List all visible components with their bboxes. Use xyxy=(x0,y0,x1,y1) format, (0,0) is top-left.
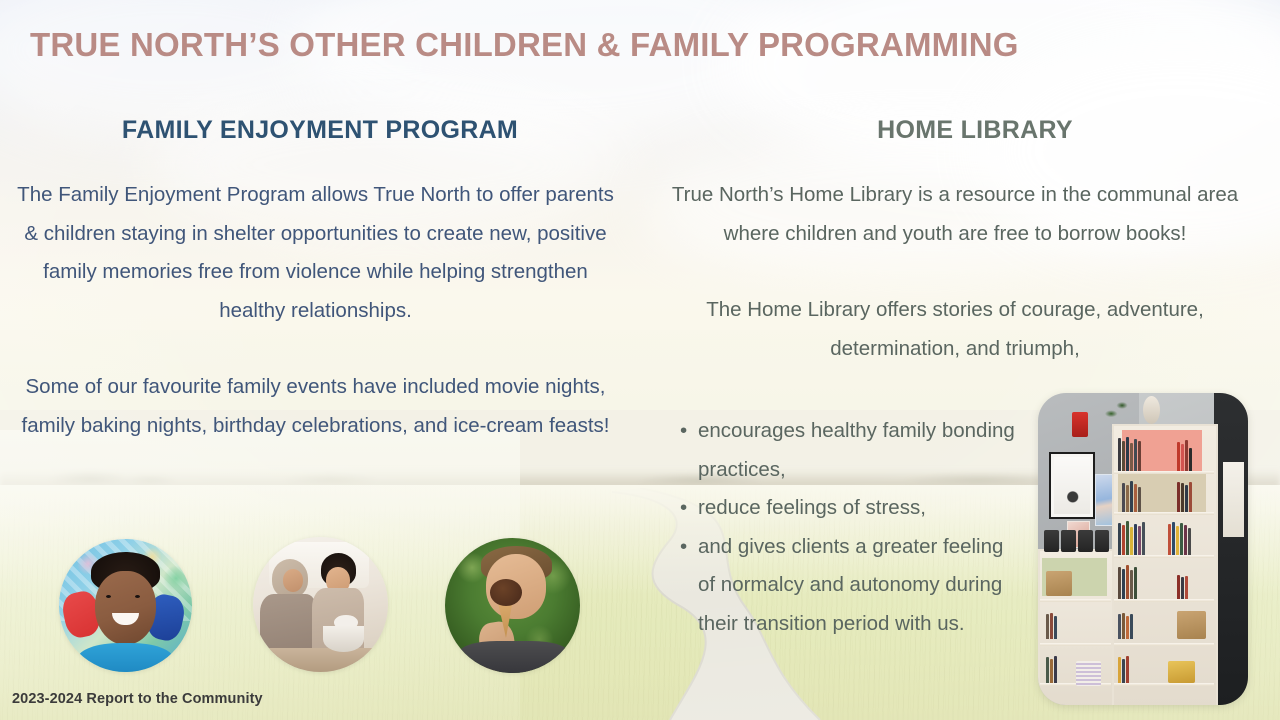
child-painted-hands-photo xyxy=(59,539,192,672)
list-item-label: reduce feelings of stress, xyxy=(698,496,926,519)
right-paragraph-1: True North’s Home Library is a resource … xyxy=(655,176,1255,253)
bullet-marker-icon: • xyxy=(680,528,687,567)
list-item: • encourages healthy family bonding prac… xyxy=(676,412,1016,489)
list-item-label: encourages healthy family bonding practi… xyxy=(698,419,1015,481)
child-eating-ice-cream-photo xyxy=(445,538,580,673)
list-item-label: and gives clients a greater feeling of n… xyxy=(698,535,1003,635)
right-column-body: True North’s Home Library is a resource … xyxy=(655,176,1255,368)
page-title: TRUE NORTH’S OTHER CHILDREN & FAMILY PRO… xyxy=(30,26,1230,64)
bullet-marker-icon: • xyxy=(680,412,687,451)
right-column-heading: HOME LIBRARY xyxy=(660,116,1280,145)
parent-and-child-baking-photo xyxy=(253,537,388,672)
left-column-body: The Family Enjoyment Program allows True… xyxy=(8,176,623,446)
bullet-marker-icon: • xyxy=(680,489,687,528)
left-paragraph-1: The Family Enjoyment Program allows True… xyxy=(8,176,623,330)
home-library-bookshelf-photo xyxy=(1038,393,1248,705)
slide-canvas: TRUE NORTH’S OTHER CHILDREN & FAMILY PRO… xyxy=(0,0,1280,720)
list-item: • reduce feelings of stress, xyxy=(676,489,1016,528)
left-paragraph-2: Some of our favourite family events have… xyxy=(8,368,623,445)
right-paragraph-2: The Home Library offers stories of coura… xyxy=(655,291,1255,368)
left-column-heading: FAMILY ENJOYMENT PROGRAM xyxy=(20,116,620,145)
list-item: • and gives clients a greater feeling of… xyxy=(676,528,1016,644)
home-library-benefits-list: • encourages healthy family bonding prac… xyxy=(676,412,1016,644)
footer-report-label: 2023-2024 Report to the Community xyxy=(12,691,263,707)
